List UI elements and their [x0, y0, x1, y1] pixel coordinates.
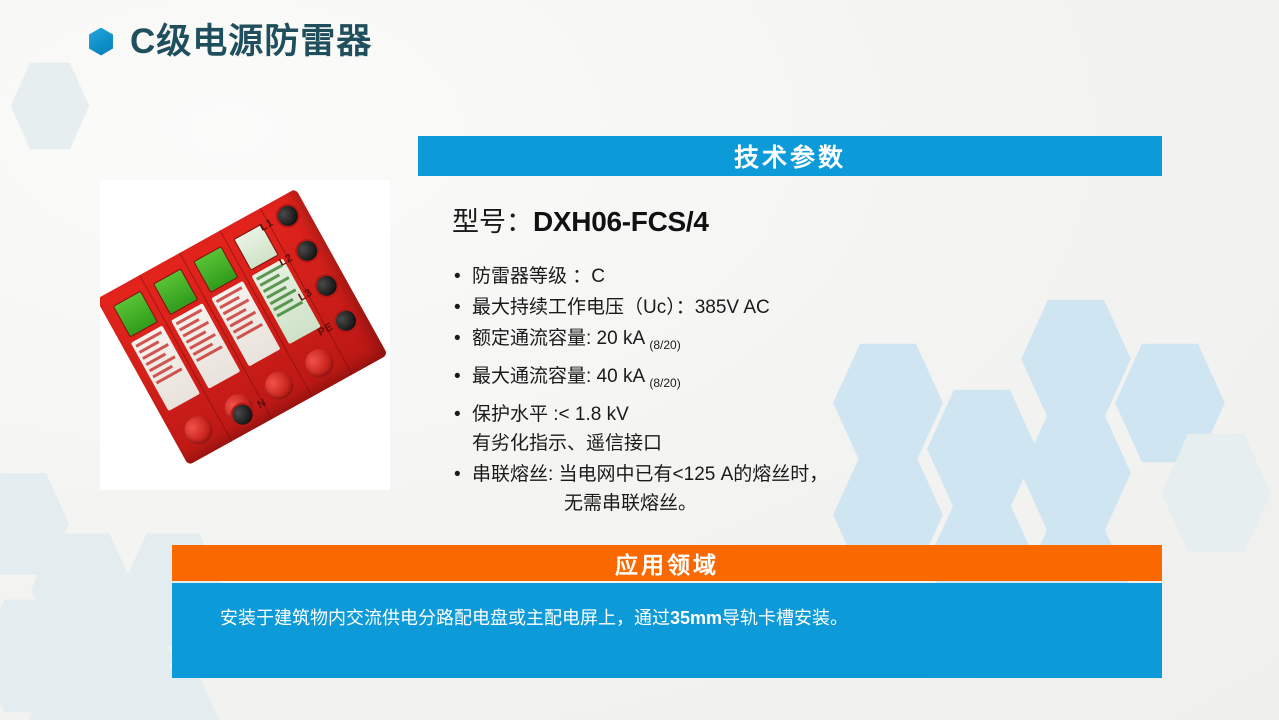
slide-canvas: C级电源防雷器 [0, 0, 1279, 720]
application-header-label: 应用领域 [615, 546, 719, 580]
tech-param-subscript: (8/20) [649, 376, 680, 390]
application-body-text: 安装于建筑物内交流供电分路配电盘或主配电屏上，通过35mm导轨卡槽安装。 [172, 583, 1162, 631]
tech-param-text: 防雷器等级 ：C [472, 262, 1154, 291]
application-text-highlight: 35mm [670, 608, 722, 628]
bullet-icon: • [454, 400, 472, 429]
application-header: 应用领域 [172, 545, 1162, 581]
product-image: L1 L2 L3 PE N [100, 180, 390, 490]
spd-module-knob [179, 411, 217, 449]
bullet-icon: • [454, 262, 472, 291]
tech-param-main: 保护水平 :< 1.8 kV [472, 404, 629, 425]
spd-module-knob [300, 344, 338, 382]
tech-params-list: •防雷器等级 ：C•最大持续工作电压（Uc）：385V AC•额定通流容量: 2… [454, 262, 1154, 520]
tech-param-second-line: 有劣化指示、遥信接口 [472, 429, 1154, 458]
tech-param-item: •串联熔丝: 当电网中已有<125 A的熔丝时，无需串联熔丝。 [454, 460, 1154, 518]
page-title: C级电源防雷器 [88, 24, 372, 59]
hexagon-bullet-icon [88, 28, 114, 56]
tech-params-header: 技术参数 [418, 136, 1162, 176]
application-text-prefix: 安装于建筑物内交流供电分路配电盘或主配电屏上，通过 [220, 608, 670, 628]
bullet-icon: • [454, 362, 472, 391]
tech-param-main: 最大通流容量: 40 kA [472, 366, 649, 387]
tech-param-second-line: 无需串联熔丝。 [472, 489, 1154, 518]
bullet-icon: • [454, 293, 472, 322]
application-text-suffix: 导轨卡槽安装。 [722, 608, 848, 628]
bullet-icon: • [454, 324, 472, 353]
tech-param-text: 额定通流容量: 20 kA (8/20) [472, 324, 1154, 360]
tech-param-main: 串联熔丝: 当电网中已有<125 A的熔丝时， [472, 464, 828, 485]
application-body: 安装于建筑物内交流供电分路配电盘或主配电屏上，通过35mm导轨卡槽安装。 [172, 583, 1162, 678]
tech-param-item: •防雷器等级 ：C [454, 262, 1154, 291]
tech-param-text: 最大通流容量: 40 kA (8/20) [472, 362, 1154, 398]
tech-params-header-label: 技术参数 [734, 138, 846, 174]
model-row: 型号： DXH06-FCS/4 [452, 200, 709, 239]
spd-module-knob [260, 366, 298, 404]
page-title-text: C级电源防雷器 [130, 24, 372, 59]
product-image-canvas: L1 L2 L3 PE N [100, 180, 390, 490]
tech-param-main: 防雷器等级 ：C [472, 266, 605, 287]
tech-param-text: 串联熔丝: 当电网中已有<125 A的熔丝时，无需串联熔丝。 [472, 460, 1154, 518]
tech-param-item: •保护水平 :< 1.8 kV有劣化指示、遥信接口 [454, 400, 1154, 458]
tech-param-item: •额定通流容量: 20 kA (8/20) [454, 324, 1154, 360]
tech-param-main: 额定通流容量: 20 kA [472, 328, 649, 349]
tech-param-text: 保护水平 :< 1.8 kV有劣化指示、遥信接口 [472, 400, 1154, 458]
model-value: DXH06-FCS/4 [533, 206, 709, 238]
model-label: 型号： [452, 200, 533, 239]
tech-param-item: •最大通流容量: 40 kA (8/20) [454, 362, 1154, 398]
tech-param-main: 最大持续工作电压（Uc）：385V AC [472, 297, 770, 318]
tech-param-subscript: (8/20) [649, 338, 680, 352]
surge-protector-device-illustration: L1 L2 L3 PE N [100, 189, 388, 466]
bullet-icon: • [454, 460, 472, 489]
tech-param-item: •最大持续工作电压（Uc）：385V AC [454, 293, 1154, 322]
tech-param-text: 最大持续工作电压（Uc）：385V AC [472, 293, 1154, 322]
